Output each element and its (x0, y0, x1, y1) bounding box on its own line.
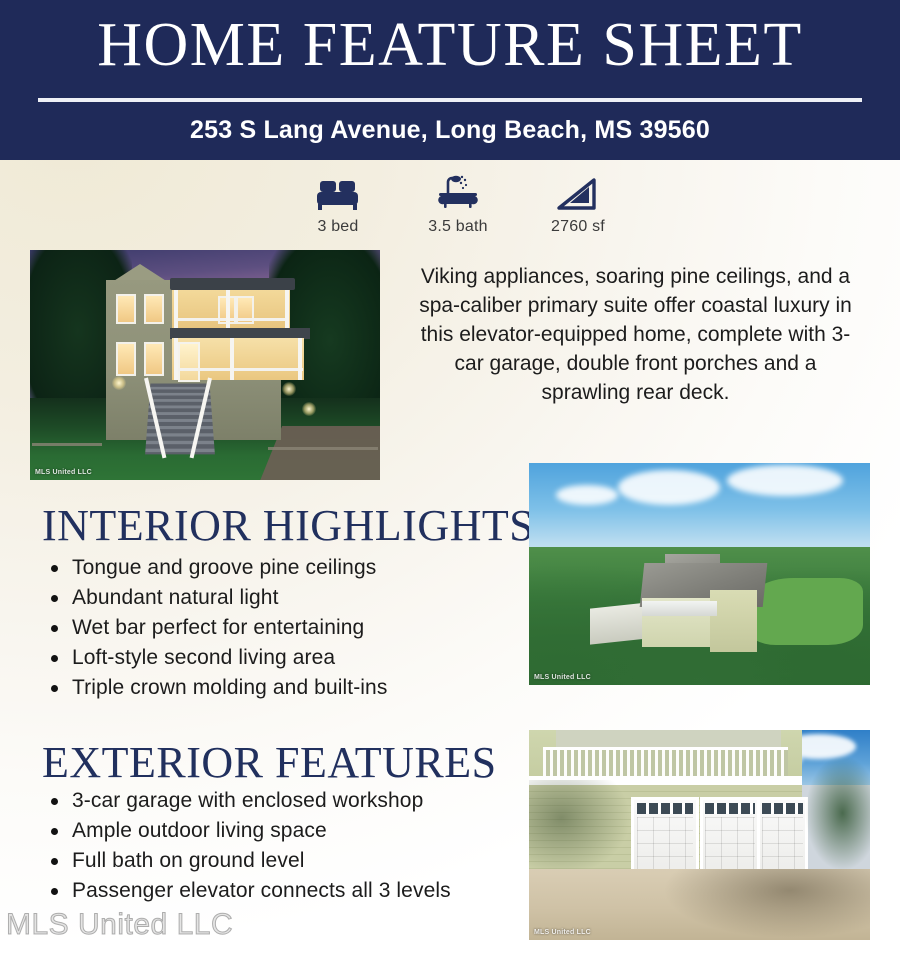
exterior-light-left (112, 376, 126, 390)
page-title: HOME FEATURE SHEET (0, 14, 900, 76)
upper-porch-railing (175, 318, 287, 321)
garage-door-2 (700, 797, 761, 874)
rear-lawn (747, 578, 863, 645)
list-item: Wet bar perfect for entertaining (42, 613, 512, 643)
list-item: Tongue and groove pine ceilings (42, 553, 512, 583)
window-lower-left (116, 342, 136, 376)
exterior-features-list: 3-car garage with enclosed workshop Ampl… (42, 786, 542, 906)
lower-porch-railing (175, 368, 303, 371)
stat-bathrooms-label: 3.5 bath (428, 218, 487, 236)
fence-right (268, 447, 378, 450)
garage-door-panels (705, 817, 755, 868)
three-car-garage-photo: MLS United LLC (529, 730, 870, 940)
porch-post-2 (226, 290, 230, 328)
footer-watermark: MLS United LLC (6, 908, 233, 942)
list-item: Full bath on ground level (42, 846, 542, 876)
upper-porch-roof (170, 278, 295, 290)
header-divider (38, 98, 862, 102)
front-door (178, 342, 200, 382)
exterior-light-right (282, 382, 296, 396)
tree-shadow-on-wall (529, 780, 631, 875)
window-upper-right (144, 294, 164, 324)
porch-post-3 (285, 290, 289, 328)
window-lower-right (144, 342, 164, 376)
aerial-view-photo: MLS United LLC (529, 463, 870, 685)
list-item: Abundant natural light (42, 583, 512, 613)
bathtub-shower-icon (436, 170, 480, 212)
home-feature-sheet: HOME FEATURE SHEET 253 S Lang Avenue, Lo… (0, 0, 900, 970)
list-item: Ample outdoor living space (42, 816, 542, 846)
interior-highlights-list: Tongue and groove pine ceilings Abundant… (42, 553, 512, 703)
triangle-ruler-icon (556, 170, 600, 212)
header-banner: HOME FEATURE SHEET 253 S Lang Avenue, Lo… (0, 0, 900, 160)
cloud-1 (618, 470, 720, 506)
list-item: Loft-style second living area (42, 643, 512, 673)
porch-post-1 (174, 290, 178, 328)
garage-door-panels (762, 817, 803, 868)
property-description: Viking appliances, soaring pine ceilings… (408, 262, 863, 407)
list-item: 3-car garage with enclosed workshop (42, 786, 542, 816)
list-item: Passenger elevator connects all 3 levels (42, 876, 542, 906)
bed-icon (315, 170, 361, 212)
property-address: 253 S Lang Avenue, Long Beach, MS 39560 (0, 114, 900, 146)
porch-post-5 (230, 338, 234, 380)
tree-shadow-on-driveway (659, 869, 870, 940)
porch-post-6 (298, 338, 302, 380)
garage-door-windows (637, 803, 693, 814)
property-stats-row: 3 bed 3.5 bath (283, 170, 633, 250)
stat-bedrooms-label: 3 bed (317, 218, 358, 236)
stat-square-feet-label: 2760 sf (551, 218, 605, 236)
list-item: Triple crown molding and built-ins (42, 673, 512, 703)
garage-door-windows (762, 803, 803, 814)
exterior-features-title: EXTERIOR FEATURES (42, 741, 497, 785)
stat-square-feet: 2760 sf (523, 170, 633, 236)
front-elevation-twilight-photo: MLS United LLC (30, 250, 380, 480)
stat-bedrooms: 3 bed (283, 170, 393, 236)
metal-porch-roof (642, 601, 717, 617)
interior-highlights-title: INTERIOR HIGHLIGHTS (42, 504, 534, 548)
garage-door-windows (705, 803, 755, 814)
landscape-light (302, 402, 316, 416)
tree-right (805, 755, 870, 871)
house-wall-right (710, 590, 758, 652)
stat-bathrooms: 3.5 bath (403, 170, 513, 236)
cloud-2 (727, 465, 843, 496)
porch-post-4 (174, 338, 178, 380)
cloud-3 (556, 485, 617, 505)
fence-left (32, 443, 102, 446)
window-upper-left (116, 294, 136, 324)
garage-door-3 (757, 797, 807, 874)
garage-door-panels (637, 817, 693, 868)
garage-door-1 (631, 797, 698, 874)
